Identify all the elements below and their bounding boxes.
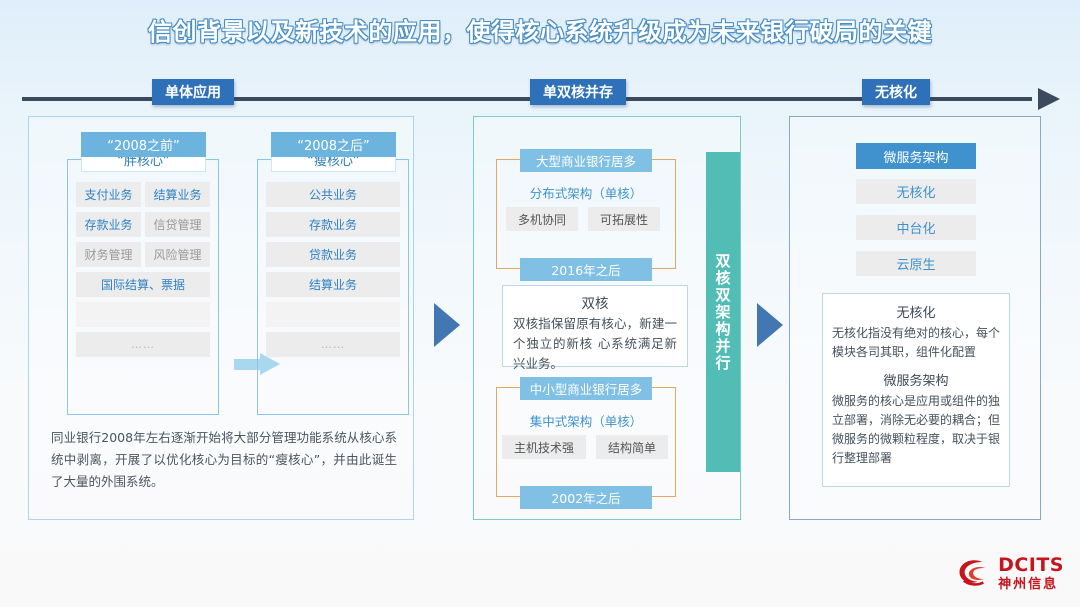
large-bank-chips: 多机协同 可拓展性 — [506, 207, 660, 231]
timeline-arrow-icon — [1038, 88, 1060, 110]
chip-multi-machine[interactable]: 多机协同 — [506, 207, 578, 231]
small-bank-header: 中小型商业银行居多 — [520, 377, 652, 400]
chip-simple-structure[interactable]: 结构简单 — [596, 435, 668, 459]
page-title-text: 信创背景以及新技术的应用，使得核心系统升级成为未来银行破局的关键 — [148, 12, 932, 47]
logo-text: DCITS 神州信息 — [998, 556, 1064, 591]
chip-row — [266, 302, 400, 327]
chip-cloudnative[interactable]: 云原生 — [856, 251, 976, 276]
chip-intl-settlement[interactable]: 国际结算、票据 — [76, 272, 210, 297]
small-bank-chips: 主机技术强 结构简单 — [502, 435, 668, 459]
panel-dualcore: 大型商业银行居多 分布式架构（单核） 多机协同 可拓展性 2016年之后 双核 … — [473, 116, 741, 520]
coreless-text-1: 无核化指没有绝对的核心，每个模块各司其职，组件化配置 — [823, 324, 1009, 362]
chip-midplatform[interactable]: 中台化 — [856, 215, 976, 240]
timeline-stage-monolith[interactable]: 单体应用 — [152, 79, 234, 105]
page-title: 信创背景以及新技术的应用，使得核心系统升级成为未来银行破局的关键 — [0, 8, 1080, 50]
chip-row: …… — [266, 332, 400, 357]
logo-en: DCITS — [998, 556, 1064, 575]
chip-coreless[interactable]: 无核化 — [856, 179, 976, 204]
chip-credit-mgmt[interactable]: 信贷管理 — [145, 212, 210, 237]
panel-transition-arrow-icon-1 — [434, 303, 460, 347]
chip-risk-mgmt[interactable]: 风险管理 — [145, 242, 210, 267]
dualcore-definition-text: 双核指保留原有核心，新建一个独立的新核 心系统满足新兴业务。 — [503, 312, 687, 374]
fat-core-items: 支付业务 结算业务 存款业务 信贷管理 财务管理 风险管理 国际结算、票据 …… — [76, 182, 210, 362]
chip-row: 存款业务 — [266, 212, 400, 237]
timeline-stage-dualcore[interactable]: 单双核并存 — [530, 79, 626, 105]
microservice-header: 微服务架构 — [856, 143, 976, 169]
chip-row: 财务管理 风险管理 — [76, 242, 210, 267]
coreless-text-2: 微服务的核心是应用或组件的独立部署，消除无必要的耦合；但微服务的微颗粒程度，取决… — [823, 392, 1009, 468]
dualcore-parallel-bar: 双核双架构并行 — [706, 152, 740, 472]
thin-core-items: 公共业务 存款业务 贷款业务 结算业务 …… — [266, 182, 400, 362]
chip-scalability[interactable]: 可拓展性 — [588, 207, 660, 231]
large-bank-header: 大型商业银行居多 — [520, 149, 652, 172]
company-logo: DCITS 神州信息 — [957, 553, 1064, 593]
chip-settlement[interactable]: 结算业务 — [145, 182, 210, 207]
dualcore-definition-title: 双核 — [503, 292, 687, 312]
chip-row: 结算业务 — [266, 272, 400, 297]
logo-cn: 神州信息 — [998, 578, 1064, 591]
panel-coreless: 微服务架构 无核化 中台化 云原生 无核化 无核化指没有绝对的核心，每个模块各司… — [789, 116, 1041, 520]
chip-row: …… — [76, 332, 210, 357]
fat-core-footer: “2008之前” — [81, 132, 206, 157]
chip-deposit-business[interactable]: 存款业务 — [266, 212, 400, 237]
large-bank-footer: 2016年之后 — [520, 258, 652, 281]
large-bank-subtitle: 分布式架构（单核） — [496, 183, 676, 202]
dualcore-definition-box: 双核 双核指保留原有核心，新建一个独立的新核 心系统满足新兴业务。 — [502, 285, 688, 367]
chip-mainframe-strength[interactable]: 主机技术强 — [502, 435, 586, 459]
coreless-title-2: 微服务架构 — [823, 370, 1009, 389]
chip-ellipsis: …… — [76, 332, 210, 357]
chip-settlement-business[interactable]: 结算业务 — [266, 272, 400, 297]
chip-row: 公共业务 — [266, 182, 400, 207]
chip-ellipsis: …… — [266, 332, 400, 357]
spacer — [823, 362, 1009, 370]
chip-row: 存款业务 信贷管理 — [76, 212, 210, 237]
coreless-definition-box: 无核化 无核化指没有绝对的核心，每个模块各司其职，组件化配置 微服务架构 微服务… — [822, 293, 1010, 487]
timeline-stage-coreless[interactable]: 无核化 — [862, 79, 930, 105]
chip-row: 支付业务 结算业务 — [76, 182, 210, 207]
chip-deposit[interactable]: 存款业务 — [76, 212, 141, 237]
dcits-swirl-icon — [957, 558, 991, 588]
chip-row — [76, 302, 210, 327]
panel-transition-arrow-icon-2 — [757, 303, 783, 347]
chip-public-business[interactable]: 公共业务 — [266, 182, 400, 207]
small-bank-subtitle: 集中式架构（单核） — [496, 411, 676, 430]
chip-row: 国际结算、票据 — [76, 272, 210, 297]
timeline: 单体应用 单双核并存 无核化 — [22, 88, 1060, 110]
chip-row: 贷款业务 — [266, 242, 400, 267]
panel-monolith-note: 同业银行2008年左右逐渐开始将大部分管理功能系统从核心系统中剥离，开展了以优化… — [51, 427, 397, 493]
chip-finance-mgmt[interactable]: 财务管理 — [76, 242, 141, 267]
chip-loan-business[interactable]: 贷款业务 — [266, 242, 400, 267]
thin-core-footer: “2008之后” — [271, 132, 396, 157]
chip-payment[interactable]: 支付业务 — [76, 182, 141, 207]
chip-blank — [266, 302, 400, 327]
chip-blank — [76, 302, 210, 327]
small-bank-footer: 2002年之后 — [520, 486, 652, 509]
panel-monolith: “胖核心” 支付业务 结算业务 存款业务 信贷管理 财务管理 风险管理 国际结算… — [28, 116, 414, 520]
dualcore-parallel-label: 双核双架构并行 — [713, 253, 734, 372]
coreless-title-1: 无核化 — [823, 302, 1009, 321]
